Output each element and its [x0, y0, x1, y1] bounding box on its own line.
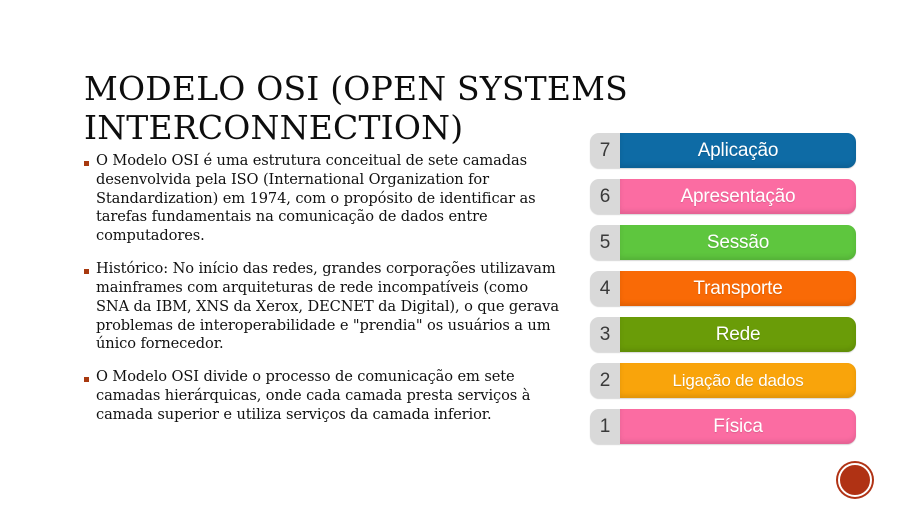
osi-layer-number: 2 [590, 363, 620, 398]
list-item-text: O Modelo OSI divide o processo de comuni… [96, 368, 562, 424]
osi-layer-label: Transporte [693, 278, 782, 300]
square-bullet-icon [84, 377, 89, 382]
list-item-text: O Modelo OSI é uma estrutura conceitual … [96, 152, 562, 246]
osi-layer-number: 4 [590, 271, 620, 306]
osi-layer-row-5: 5 Sessão [590, 225, 856, 260]
osi-layer-row-6: 6 Apresentação [590, 179, 856, 214]
osi-layer-label: Ligação de dados [672, 371, 803, 391]
osi-layer-row-3: 3 Rede [590, 317, 856, 352]
osi-layer-bar: Física [620, 409, 856, 444]
osi-layer-number: 7 [590, 133, 620, 168]
osi-layer-label: Sessão [707, 232, 769, 254]
list-item: O Modelo OSI é uma estrutura conceitual … [84, 152, 562, 246]
page-title: Modelo OSI (Open Systems Interconnection… [84, 70, 644, 147]
osi-layer-row-4: 4 Transporte [590, 271, 856, 306]
list-item: O Modelo OSI divide o processo de comuni… [84, 368, 562, 424]
list-item-text: Histórico: No início das redes, grandes … [96, 260, 562, 354]
osi-layer-number: 3 [590, 317, 620, 352]
osi-layer-row-1: 1 Física [590, 409, 856, 444]
osi-layer-number: 5 [590, 225, 620, 260]
osi-layer-label: Física [713, 416, 762, 438]
osi-layer-bar: Sessão [620, 225, 856, 260]
osi-layer-bar: Transporte [620, 271, 856, 306]
list-item: Histórico: No início das redes, grandes … [84, 260, 562, 354]
slide-canvas: Modelo OSI (Open Systems Interconnection… [0, 0, 900, 506]
osi-layer-row-2: 2 Ligação de dados [590, 363, 856, 398]
osi-layer-row-7: 7 Aplicação [590, 133, 856, 168]
osi-layer-label: Apresentação [681, 186, 796, 208]
osi-layer-number: 6 [590, 179, 620, 214]
osi-layer-label: Rede [716, 324, 761, 346]
osi-layer-bar: Aplicação [620, 133, 856, 168]
osi-layer-diagram: 7 Aplicação 6 Apresentação 5 Sessão 4 Tr… [590, 133, 856, 455]
osi-layer-bar: Rede [620, 317, 856, 352]
osi-layer-bar: Ligação de dados [620, 363, 856, 398]
osi-layer-label: Aplicação [698, 140, 779, 162]
square-bullet-icon [84, 161, 89, 166]
decorative-circle-icon [838, 463, 872, 497]
square-bullet-icon [84, 269, 89, 274]
osi-layer-number: 1 [590, 409, 620, 444]
bullet-list: O Modelo OSI é uma estrutura conceitual … [84, 152, 562, 439]
osi-layer-bar: Apresentação [620, 179, 856, 214]
